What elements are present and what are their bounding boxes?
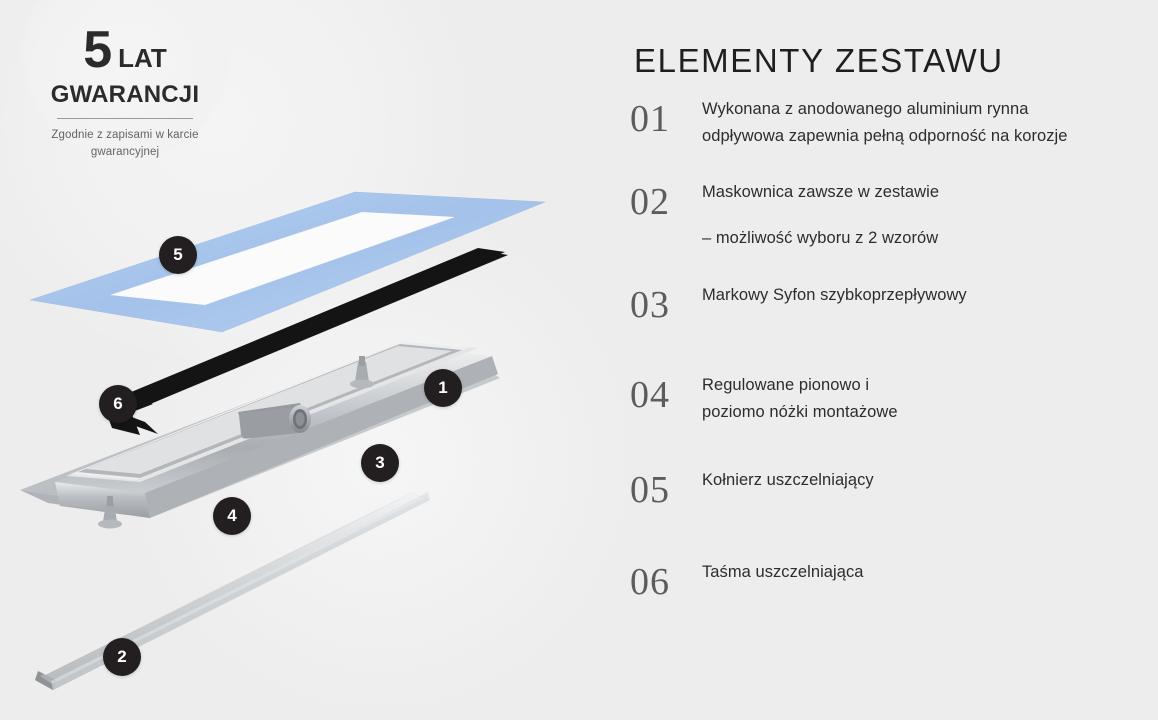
- callout-badge-5[interactable]: 5: [159, 236, 197, 274]
- item-line-1: Taśma uszczelniająca: [702, 563, 864, 581]
- list-item: 01 Wykonana z anodowanego aluminium rynn…: [630, 96, 1158, 149]
- warranty-years-unit: LAT: [118, 43, 167, 74]
- callout-badge-1[interactable]: 1: [424, 369, 462, 407]
- item-text: Regulowane pionowo i poziomo nóżki monta…: [702, 372, 1158, 425]
- item-line-2: – możliwość wyboru z 2 wzorów: [702, 225, 1158, 252]
- item-text: Maskownica zawsze w zestawie – możliwość…: [702, 179, 1158, 251]
- item-text: Wykonana z anodowanego aluminium rynna o…: [702, 96, 1158, 149]
- list-item: 05 Kołnierz uszczelniający: [630, 467, 1158, 509]
- item-number: 04: [630, 372, 702, 414]
- warranty-divider: [57, 118, 193, 119]
- list-item: 04 Regulowane pionowo i poziomo nóżki mo…: [630, 372, 1158, 425]
- item-text: Kołnierz uszczelniający: [702, 467, 1158, 494]
- warranty-note-line-1: Zgodnie z zapisami w karcie: [51, 129, 198, 141]
- warranty-headline-row: 5 LAT: [0, 26, 250, 75]
- callout-badge-2[interactable]: 2: [103, 638, 141, 676]
- item-line-1: Kołnierz uszczelniający: [702, 471, 874, 489]
- page-title: ELEMENTY ZESTAWU: [634, 42, 1004, 80]
- item-line-2: poziomo nóżki montażowe: [702, 399, 1158, 426]
- callout-badge-6[interactable]: 6: [99, 385, 137, 423]
- warranty-title: GWARANCJI: [0, 81, 250, 109]
- set-elements-panel: ELEMENTY ZESTAWU 01 Wykonana z anodowane…: [630, 0, 1158, 710]
- item-number: 03: [630, 282, 702, 324]
- list-item: 02 Maskownica zawsze w zestawie – możliw…: [630, 179, 1158, 251]
- product-illustration: [0, 160, 600, 710]
- item-number: 05: [630, 467, 702, 509]
- item-number: 02: [630, 179, 702, 221]
- item-line-1: Markowy Syfon szybkoprzepływowy: [702, 286, 967, 304]
- item-line-1: Regulowane pionowo i: [702, 376, 869, 394]
- list-item: 06 Taśma uszczelniająca: [630, 559, 1158, 601]
- product-exploded-diagram: 5 6 1 3 4 2: [0, 160, 600, 710]
- item-line-1: Maskownica zawsze w zestawie: [702, 183, 939, 201]
- warranty-note-line-2: gwarancyjnej: [91, 146, 159, 158]
- item-text: Markowy Syfon szybkoprzepływowy: [702, 282, 1158, 309]
- item-line-1: Wykonana z anodowanego aluminium rynna: [702, 100, 1028, 118]
- item-number: 01: [630, 96, 702, 138]
- item-text: Taśma uszczelniająca: [702, 559, 1158, 586]
- warranty-years: 5: [83, 26, 111, 75]
- item-number: 06: [630, 559, 702, 601]
- list-item: 03 Markowy Syfon szybkoprzepływowy: [630, 282, 1158, 324]
- callout-badge-4[interactable]: 4: [213, 497, 251, 535]
- warranty-note: Zgodnie z zapisami w karcie gwarancyjnej: [0, 127, 250, 161]
- callout-badge-3[interactable]: 3: [361, 444, 399, 482]
- set-elements-list: 01 Wykonana z anodowanego aluminium rynn…: [630, 96, 1158, 625]
- item-line-2: odpływowa zapewnia pełną odporność na ko…: [702, 123, 1158, 150]
